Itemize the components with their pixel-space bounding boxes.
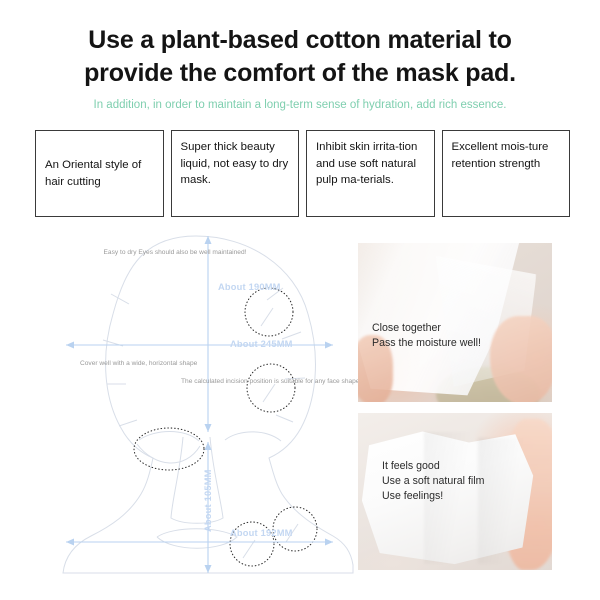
page-subheadline: In addition, in order to maintain a long… [0,97,600,113]
feature-box-4-label: Excellent mois-ture retention strength [452,139,561,172]
feature-box-2-label: Super thick beauty liquid, not easy to d… [181,139,290,189]
feature-box-1: An Oriental style of hair cutting [35,130,164,217]
feature-box-4: Excellent mois-ture retention strength [442,130,571,217]
product-photo-close-together: Close together Pass the moisture well! [358,243,552,402]
photo-1-caption: Close together Pass the moisture well! [372,321,481,351]
photo-1-right-hand [490,316,552,402]
feature-box-row: An Oriental style of hair cutting Super … [35,130,570,217]
feature-box-3-label: Inhibit skin irrita-tion and use soft na… [316,139,425,189]
product-photo-soft-film: It feels good Use a soft natural film Us… [358,413,552,570]
photo-2-caption: It feels good Use a soft natural film Us… [382,459,484,504]
mask-outline-svg [33,232,358,577]
page-headline: Use a plant-based cotton material to pro… [0,24,600,90]
headline-line-2: provide the comfort of the mask pad. [0,57,600,90]
product-detail-page: Use a plant-based cotton material to pro… [0,0,600,600]
feature-box-3: Inhibit skin irrita-tion and use soft na… [306,130,435,217]
photo-2-fold-shadow-2 [478,438,528,564]
headline-line-1: Use a plant-based cotton material to [88,26,511,54]
mask-dimension-diagram: About 190MM About 245MM About 105MM Abou… [33,232,358,577]
feature-box-2: Super thick beauty liquid, not easy to d… [171,130,300,217]
feature-box-1-label: An Oriental style of hair cutting [45,157,154,190]
